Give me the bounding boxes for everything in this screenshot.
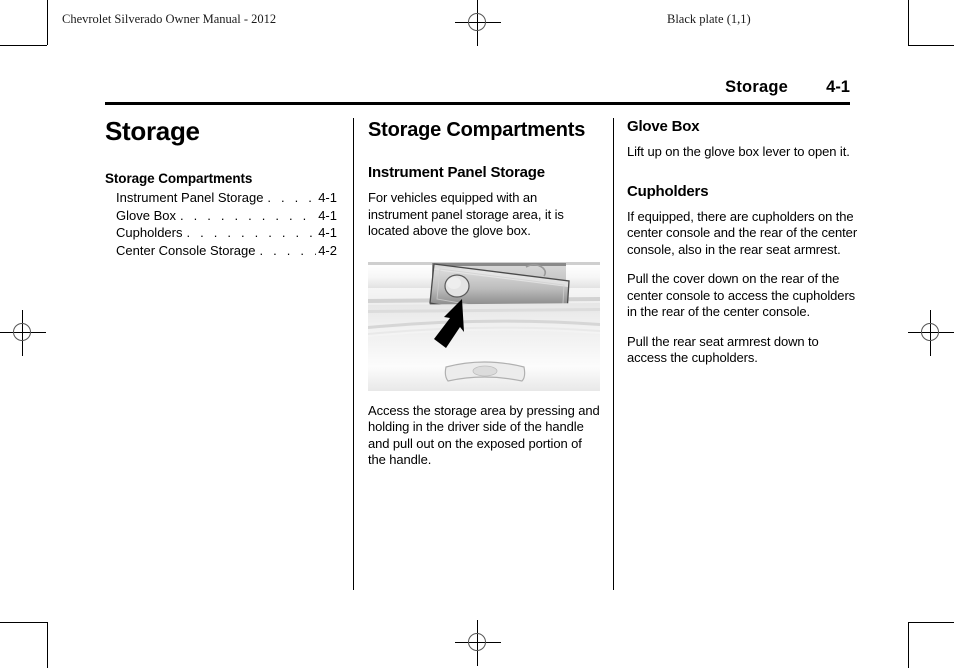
crop-mark-top-left-vertical xyxy=(47,0,48,45)
crop-mark-top-right-horizontal xyxy=(908,45,954,46)
column-divider-2 xyxy=(613,118,614,590)
crop-mark-top-right-vertical xyxy=(908,0,909,45)
registration-mark-circle xyxy=(921,323,939,341)
toc-entry[interactable]: Cupholders . . . . . . . . . . . . . . .… xyxy=(116,224,337,242)
toc-entry-leader: . . . . . xyxy=(267,189,316,207)
paragraph-instrument-panel-intro: For vehicles equipped with an instrument… xyxy=(368,190,600,240)
paragraph-access-storage: Access the storage area by pressing and … xyxy=(368,403,600,469)
recess-top-shadow xyxy=(432,263,566,266)
toc-entry-page: 4-1 xyxy=(318,189,337,207)
manual-title-text: Chevrolet Silverado Owner Manual - 2012 xyxy=(62,12,276,27)
column-divider-1 xyxy=(353,118,354,590)
page-header: Chevrolet Silverado Owner Manual - 2012 … xyxy=(62,12,892,38)
toc-entry-label: Center Console Storage xyxy=(116,242,255,260)
registration-mark-circle xyxy=(13,323,31,341)
subsection-heading-cupholders: Cupholders xyxy=(627,183,859,200)
registration-mark-circle xyxy=(468,633,486,651)
running-header-rule xyxy=(105,102,850,105)
lower-trim-sweep xyxy=(368,330,600,390)
section-title: Storage Compartments xyxy=(368,118,600,142)
toc-entry-label: Glove Box xyxy=(116,207,176,225)
toc-entry-leader: . . . . . . . . . . . . . . . . . xyxy=(187,224,317,242)
subsection-heading-instrument-panel-storage: Instrument Panel Storage xyxy=(368,164,600,181)
toc-entry-label: Cupholders xyxy=(116,224,183,242)
crop-mark-bottom-right-vertical xyxy=(908,622,909,668)
running-header-page-number: 4-1 xyxy=(826,78,850,97)
instrument-panel-storage-illustration xyxy=(368,253,600,391)
toc-heading: Storage Compartments xyxy=(105,171,337,186)
crop-mark-top-left-horizontal xyxy=(0,45,47,46)
paragraph-glove-box: Lift up on the glove box lever to open i… xyxy=(627,144,859,161)
dash-top-edge xyxy=(368,253,600,262)
registration-mark-bottom xyxy=(455,620,501,666)
illustration-svg xyxy=(368,253,600,391)
crop-mark-bottom-left-vertical xyxy=(47,622,48,668)
paragraph-cupholders-2: Pull the cover down on the rear of the c… xyxy=(627,271,859,321)
toc-entry-page: 4-1 xyxy=(318,207,337,225)
toc-entry[interactable]: Glove Box . . . . . . . . . . . . . . . … xyxy=(116,207,337,225)
toc-entry-label: Instrument Panel Storage xyxy=(116,189,263,207)
column-three: Glove Box Lift up on the glove box lever… xyxy=(627,118,859,367)
toc-entry-leader: . . . . . . . . . . . . . . . . . . xyxy=(180,207,316,225)
toc-entry-page: 4-2 xyxy=(318,242,337,260)
registration-mark-left xyxy=(0,310,46,356)
paragraph-cupholders-1: If equipped, there are cupholders on the… xyxy=(627,209,859,259)
registration-mark-right xyxy=(908,310,954,356)
paragraph-cupholders-3: Pull the rear seat armrest down to acces… xyxy=(627,334,859,367)
table-of-contents: Instrument Panel Storage . . . . . 4-1 G… xyxy=(105,189,337,259)
toc-entry[interactable]: Instrument Panel Storage . . . . . 4-1 xyxy=(116,189,337,207)
subsection-heading-glove-box: Glove Box xyxy=(627,118,859,135)
page-title: Storage xyxy=(105,118,337,145)
running-header: Storage 4-1 xyxy=(105,78,850,104)
handle-press-pad-highlight xyxy=(447,277,461,289)
column-two: Storage Compartments Instrument Panel St… xyxy=(368,118,600,469)
black-plate-text: Black plate (1,1) xyxy=(667,12,751,27)
crop-mark-bottom-right-horizontal xyxy=(908,622,954,623)
glove-box-handle-recess xyxy=(473,366,497,376)
toc-entry-leader: . . . . . . xyxy=(259,242,316,260)
toc-entry-page: 4-1 xyxy=(318,224,337,242)
column-one: Storage Storage Compartments Instrument … xyxy=(105,118,337,259)
crop-mark-bottom-left-horizontal xyxy=(0,622,47,623)
toc-entry[interactable]: Center Console Storage . . . . . . 4-2 xyxy=(116,242,337,260)
running-header-title: Storage xyxy=(725,78,788,97)
